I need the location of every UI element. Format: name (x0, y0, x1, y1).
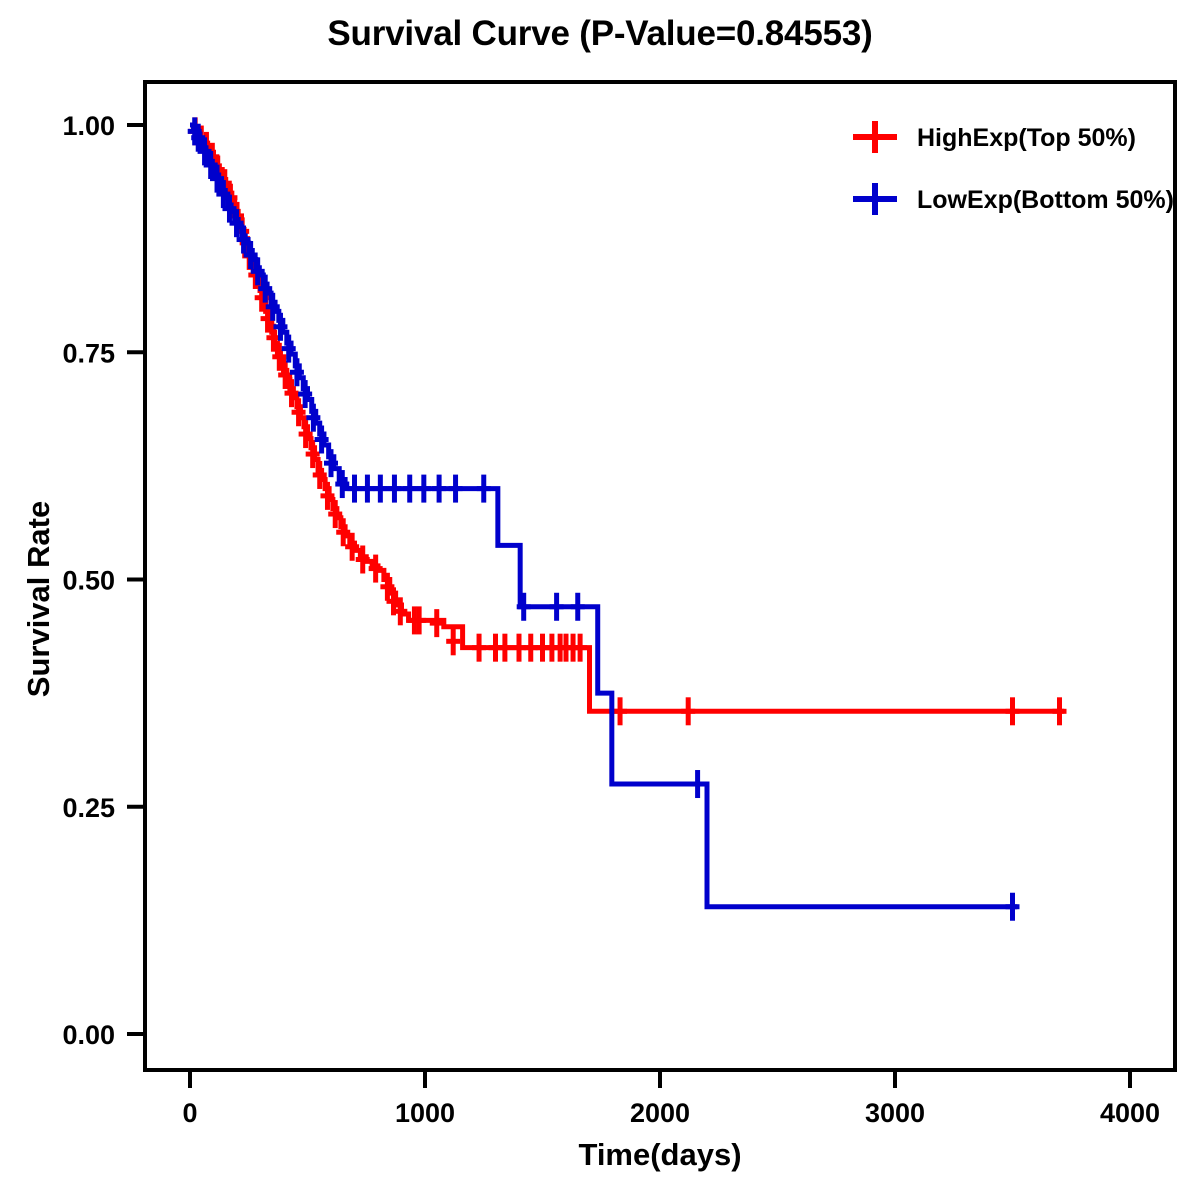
x-tick-label: 3000 (865, 1098, 925, 1128)
y-tick-label: 0.50 (62, 566, 115, 596)
x-tick-label: 2000 (630, 1098, 690, 1128)
plot-frame (145, 82, 1175, 1070)
legend-label: HighExp(Top 50%) (917, 124, 1136, 152)
legend-label: LowExp(Bottom 50%) (917, 186, 1174, 214)
x-tick-label: 4000 (1100, 1098, 1160, 1128)
y-tick-label: 1.00 (62, 111, 115, 141)
x-axis-title: Time(days) (578, 1137, 741, 1172)
survival-plot: 0.000.250.500.751.00 01000200030004000 S… (0, 0, 1200, 1200)
x-tick-label: 1000 (395, 1098, 455, 1128)
y-tick-label: 0.75 (62, 338, 115, 368)
x-axis: 01000200030004000 (182, 1070, 1160, 1128)
x-tick-label: 0 (182, 1098, 197, 1128)
y-axis: 0.000.250.500.751.00 (62, 111, 145, 1050)
survival-curve-figure: Survival Curve (P-Value=0.84553) 0.000.2… (0, 0, 1200, 1200)
y-tick-label: 0.25 (62, 793, 115, 823)
y-tick-label: 0.00 (62, 1020, 115, 1050)
y-axis-title: Survival Rate (21, 501, 56, 697)
